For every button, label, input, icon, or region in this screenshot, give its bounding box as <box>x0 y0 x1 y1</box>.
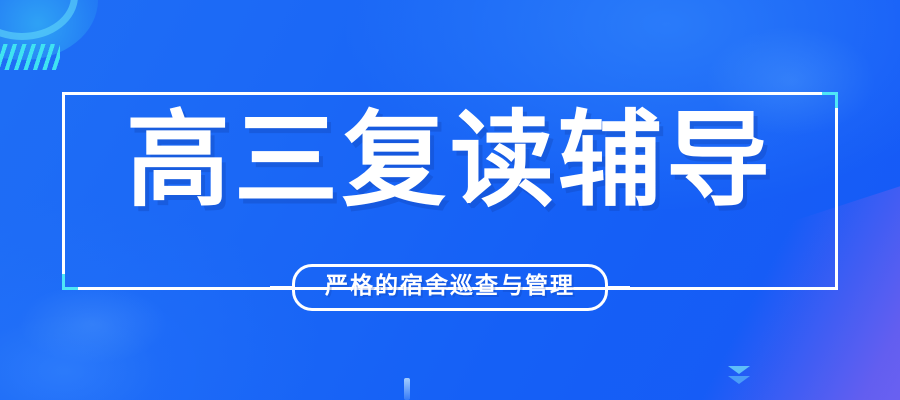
chevron-down-icon-top <box>728 366 750 374</box>
double-chevron-down-icon[interactable] <box>725 366 753 392</box>
cyan-ring-decoration <box>0 0 78 40</box>
glow-bottom-left-secondary-decoration <box>0 316 160 400</box>
diagonal-stripes-decoration <box>0 44 60 70</box>
cyan-arc-decoration <box>0 0 98 60</box>
subtitle-dash-left <box>270 286 292 289</box>
chevron-down-icon-bottom <box>728 376 750 384</box>
bottom-center-marker <box>404 378 410 400</box>
subtitle-badge: 严格的宿舍巡查与管理 <box>292 264 608 311</box>
subtitle-row: 严格的宿舍巡查与管理 <box>0 264 900 311</box>
promo-banner: 高三复读辅导 严格的宿舍巡查与管理 <box>0 0 900 400</box>
frame-corner-accent-top-right <box>822 92 838 108</box>
page-title: 高三复读辅导 <box>0 108 900 212</box>
subtitle-dash-right <box>608 286 630 289</box>
